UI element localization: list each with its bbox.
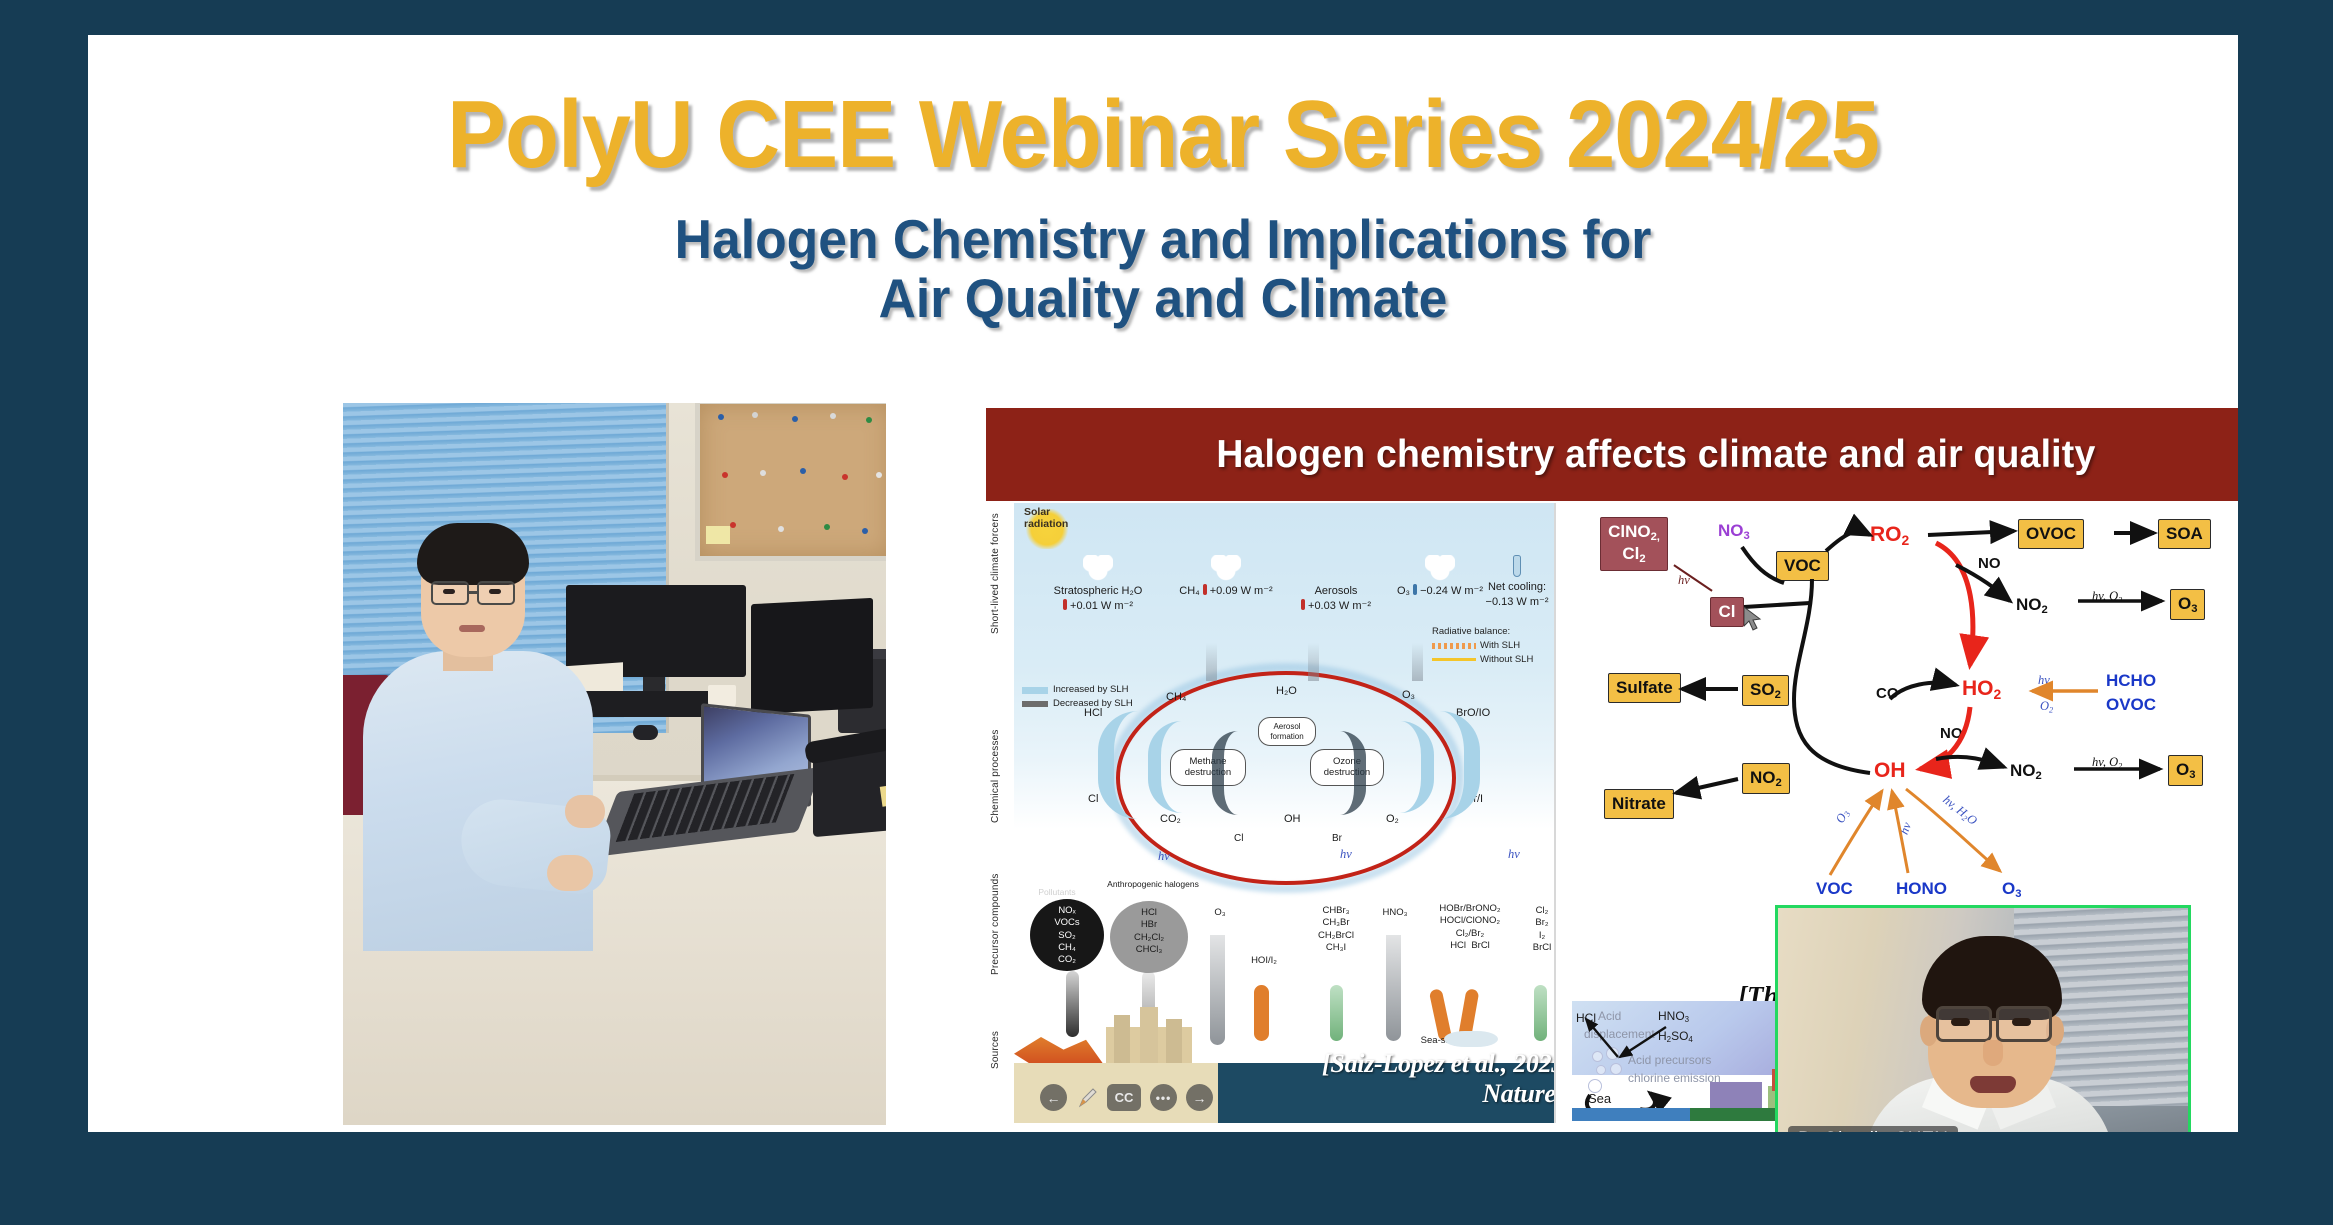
box-so2: SO2 — [1742, 675, 1789, 706]
forward-arrow-icon[interactable]: → — [1186, 1084, 1213, 1111]
saiz-lopez-citation: [Saiz-Lopez et al., 2023 Nature] — [1264, 1049, 1556, 1109]
precursor-group-organohalogens: CHBr₃ CH₃Br CH₂BrCl CH₃I — [1302, 905, 1370, 954]
aerosol-icon — [1321, 555, 1351, 581]
precursor-o3: O₃ — [1200, 907, 1240, 919]
more-options-icon[interactable]: ••• — [1150, 1084, 1177, 1111]
photolysis-label-3: hv — [1508, 847, 1520, 862]
precursor-group-pollutants: NOₓ VOCs SO₂ CH₄ CO₂ — [1034, 905, 1100, 967]
forcer-name: O₃ — [1397, 585, 1410, 597]
radical-oh: OH — [1874, 759, 1906, 783]
emission-arrow-organohalogen — [1330, 985, 1343, 1041]
species-cl-lower: Cl — [1234, 833, 1243, 844]
speaker-photo — [343, 403, 886, 1125]
species-h2o: H₂O — [1276, 685, 1297, 697]
box-no2-left: NO2 — [1742, 763, 1790, 794]
emission-arrow-o3 — [1210, 935, 1225, 1045]
radical-ro2: RO2 — [1870, 523, 1909, 548]
mouse-cursor — [1744, 607, 1762, 633]
label-no-lower: NO — [1940, 725, 1963, 742]
forcer-name: Net cooling: — [1488, 581, 1546, 593]
source-hono: HONO — [1896, 879, 1947, 899]
forcer-value: −0.13 W m⁻² — [1486, 596, 1549, 608]
label-hv-source: hv — [1897, 820, 1915, 836]
closed-captions-icon[interactable]: CC — [1107, 1084, 1141, 1111]
photolysis-label-1: hv — [1158, 849, 1170, 864]
forcer-name: Aerosols — [1315, 585, 1358, 597]
webcam-eye-left — [1951, 1018, 1970, 1026]
species-oh: OH — [1284, 813, 1301, 825]
legend-title: Radiative balance: — [1432, 625, 1550, 639]
emission-arrow-pollutants — [1066, 971, 1079, 1037]
industry-tower-2 — [1140, 1007, 1158, 1065]
page-title: PolyU CEE Webinar Series 2024/25 — [174, 80, 2152, 190]
slide-banner-title: Halogen chemistry affects climate and ai… — [1216, 433, 2095, 477]
subfig-city — [1710, 1082, 1762, 1108]
plume-ch4 — [1206, 643, 1217, 681]
ozone-arrow — [1332, 731, 1366, 815]
label-hv-ho2: hv — [2038, 673, 2050, 688]
label-hv-h2o-source: hv, H2O — [1939, 793, 1979, 829]
species-cl: Cl — [1088, 793, 1098, 805]
anthropogenic-halogens-label: Anthropogenic halogens — [1094, 879, 1212, 890]
talk-title-line-2: Air Quality and Climate — [153, 269, 2174, 328]
saiz-lopez-figure: Short-lived climate forcers Chemical pro… — [988, 503, 1556, 1123]
subfig-sea — [1572, 1108, 1690, 1121]
emission-arrow-polar — [1534, 985, 1547, 1041]
species-ch4: CH₄ — [1166, 691, 1186, 703]
process-aerosol-formation: Aerosol formation — [1258, 717, 1316, 746]
thermometer-icon — [1513, 555, 1521, 577]
speaker-eye-right — [489, 589, 501, 594]
precursor-hoi-i2: HOI/I₂ — [1238, 955, 1290, 967]
webcam-mouth — [1970, 1076, 2016, 1093]
radiative-balance-legend: Radiative balance: With SLH Without SLH — [1432, 625, 1550, 666]
forcer-net-cooling: Net cooling: −0.13 W m⁻² — [1476, 555, 1556, 610]
speaker-eye-left — [443, 589, 455, 594]
sticky-note — [706, 526, 730, 544]
species-o3: O₃ — [1402, 689, 1415, 701]
precursor-group-anthropogenic: HCl HBr CH₂Cl₂ CHCl₃ — [1114, 907, 1184, 956]
source-o3: O3 — [2002, 879, 2021, 900]
forcer-stratospheric-h2o: Stratospheric H₂O +0.01 W m⁻² — [1032, 555, 1164, 614]
webcam-eye-right — [2012, 1018, 2031, 1026]
box-o3-lower: O3 — [2168, 755, 2203, 786]
plume-aerosol — [1308, 643, 1319, 681]
legend-with-slh: With SLH — [1480, 639, 1520, 653]
speaker-hand-left — [547, 855, 593, 891]
solar-radiation-label: Solar radiation — [1024, 507, 1090, 530]
monitor-secondary — [751, 598, 873, 714]
cycle-arrow-inner-left — [1148, 721, 1192, 813]
radical-ho2: HO2 — [1962, 677, 2001, 702]
forcer-ch4: CH₄ +0.09 W m⁻² — [1174, 555, 1278, 599]
emission-arrow-hoi — [1254, 985, 1269, 1041]
forcer-aerosols: Aerosols +0.03 W m⁻² — [1284, 555, 1388, 614]
forcer-name: CH₄ — [1179, 585, 1199, 597]
slide-canvas: PolyU CEE Webinar Series 2024/25 Halogen… — [88, 35, 2238, 1132]
webcam-eyeglasses-bridge — [1989, 1018, 1999, 1021]
box-ovoc: OVOC — [2018, 519, 2084, 549]
species-co2: CO₂ — [1160, 813, 1181, 825]
species-hcho: HCHO — [2106, 671, 2156, 691]
species-ovoc-blue: OVOC — [2106, 695, 2156, 715]
label-co: CO — [1876, 685, 1899, 702]
label-o2-ho2: O2 — [2040, 699, 2053, 714]
axis-label-chemical-processes: Chemical processes — [990, 701, 1001, 851]
species-hcl: HCl — [1084, 707, 1102, 719]
ozone-molecule-icon — [1425, 555, 1455, 581]
species-no3: NO3 — [1718, 521, 1750, 542]
box-o3-upper: O3 — [2170, 589, 2205, 620]
speaker-hair — [417, 523, 529, 585]
ice-floe — [1444, 1031, 1498, 1047]
monitor-primary — [566, 585, 746, 677]
industry-tower-1 — [1114, 1015, 1130, 1065]
forcer-value: +0.09 W m⁻² — [1203, 585, 1273, 597]
emission-arrow-hno3 — [1386, 935, 1401, 1041]
precursor-group-sea-salt: HOBr/BrONO₂ HOCl/ClONO₂ Cl₂/Br₂ HCl BrCl — [1418, 903, 1522, 952]
speaker-torso — [363, 651, 593, 951]
speaker-hand-right — [565, 795, 605, 828]
species-no2-upper: NO2 — [2016, 595, 2048, 616]
forcer-value: −0.24 W m⁻² — [1413, 585, 1483, 597]
source-voc: VOC — [1816, 879, 1853, 899]
label-no-upper: NO — [1978, 555, 2001, 572]
pollutants-label: Pollutants — [1022, 887, 1092, 898]
species-br-lower: Br — [1332, 833, 1342, 844]
eyeglasses-bridge — [469, 591, 477, 594]
species-o2: O₂ — [1386, 813, 1399, 825]
talk-title-line-1: Halogen Chemistry and Implications for — [153, 210, 2174, 269]
box-sulfate: Sulfate — [1608, 673, 1681, 703]
axis-label-sources: Sources — [990, 995, 1001, 1105]
label-hv-o2-upper: hv, O2 — [2092, 589, 2122, 604]
forcer-value: +0.01 W m⁻² — [1063, 600, 1133, 612]
photolysis-label-2: hv — [1340, 847, 1352, 862]
back-arrow-icon[interactable]: ← — [1040, 1084, 1067, 1111]
legend-increased-by-slh: Increased by SLH — [1053, 683, 1129, 697]
axis-label-precursor-compounds: Precursor compounds — [990, 859, 1001, 989]
species-no2-lower: NO2 — [2010, 761, 2042, 782]
methane-arrow — [1212, 731, 1246, 815]
forcer-value: +0.03 W m⁻² — [1301, 600, 1371, 612]
forcer-name: Stratospheric H₂O — [1054, 585, 1143, 597]
legend-without-slh: Without SLH — [1480, 653, 1533, 667]
slide-banner: Halogen chemistry affects climate and ai… — [986, 408, 2238, 501]
corkboard — [695, 403, 886, 561]
precursor-hno3: HNO₃ — [1372, 907, 1418, 919]
desk-phone — [813, 749, 886, 837]
box-soa: SOA — [2158, 519, 2211, 549]
webcam-speaker-name: Dr Qian-jie CHEN — [1788, 1126, 1958, 1132]
box-cl: Cl — [1710, 597, 1744, 627]
axis-label-climate-forcers: Short-lived climate forcers — [990, 509, 1001, 639]
precursor-group-polar: Cl₂ Br₂ I₂ BrCl — [1520, 905, 1556, 954]
webinar-toolbar[interactable]: ← CC ••• → — [1040, 1084, 1213, 1111]
webcam-overlay[interactable]: Dr Qian-jie CHEN — [1775, 905, 2191, 1132]
plume-o3 — [1412, 643, 1423, 681]
label-hv-o2-lower: hv, O2 — [2092, 755, 2122, 770]
label-o3-source: O3 — [1833, 807, 1853, 826]
pen-icon[interactable] — [1076, 1084, 1098, 1111]
talk-title: Halogen Chemistry and Implications for A… — [153, 210, 2174, 328]
methane-molecule-icon — [1211, 555, 1241, 581]
box-clno2-cl2: ClNO2,Cl2 — [1600, 517, 1668, 571]
webcam-nose — [1983, 1040, 2003, 1066]
computer-mouse — [633, 725, 658, 740]
industry-tower-3 — [1166, 1019, 1182, 1065]
box-voc: VOC — [1776, 551, 1829, 581]
speaker-mouth — [459, 625, 485, 632]
box-nitrate: Nitrate — [1604, 789, 1674, 819]
water-molecule-icon — [1083, 555, 1113, 581]
